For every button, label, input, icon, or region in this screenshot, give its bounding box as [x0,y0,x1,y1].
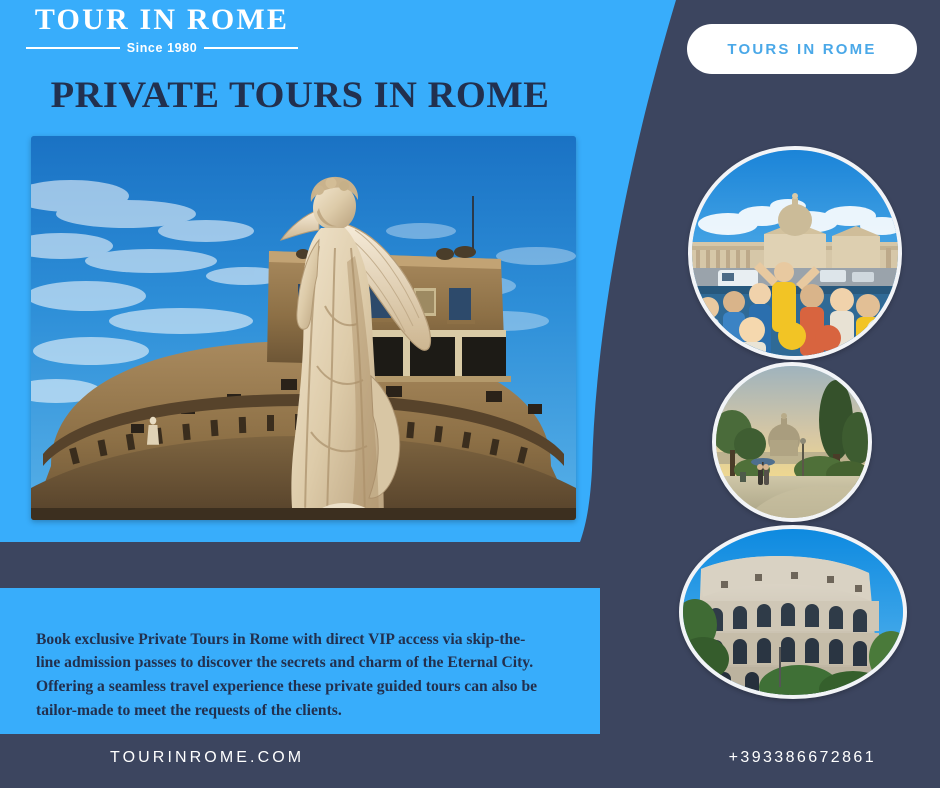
footer-phone[interactable]: +393386672861 [729,749,876,767]
thumbnail-colosseum-illustration [683,529,903,695]
logo-since-label: Since 1980 [127,41,198,55]
badge-label: TOURS IN ROME [727,41,876,58]
page-title: PRIVATE TOURS IN ROME [0,74,612,117]
poster-canvas: TOUR IN ROME Since 1980 PRIVATE TOURS IN… [0,0,940,788]
description-text: Book exclusive Private Tours in Rome wit… [36,628,541,723]
thumbnail-colosseum[interactable] [679,525,907,699]
footer-website[interactable]: TOURINROME.COM [110,749,304,767]
tours-in-rome-badge[interactable]: TOURS IN ROME [687,24,917,74]
logo-rule-right [204,47,298,49]
thumbnail-vatican-illustration [692,150,898,356]
logo-subtitle: Since 1980 [22,41,302,55]
logo-title: TOUR IN ROME [22,4,302,36]
thumbnail-park-illustration [716,366,868,518]
thumbnail-vatican-square[interactable] [688,146,902,360]
hero-image-castel-sant-angelo [31,136,576,520]
logo-rule-left [26,47,120,49]
thumbnail-park-sunset-dome[interactable] [712,362,872,522]
brand-logo: TOUR IN ROME Since 1980 [22,4,302,55]
hero-illustration [31,136,576,520]
